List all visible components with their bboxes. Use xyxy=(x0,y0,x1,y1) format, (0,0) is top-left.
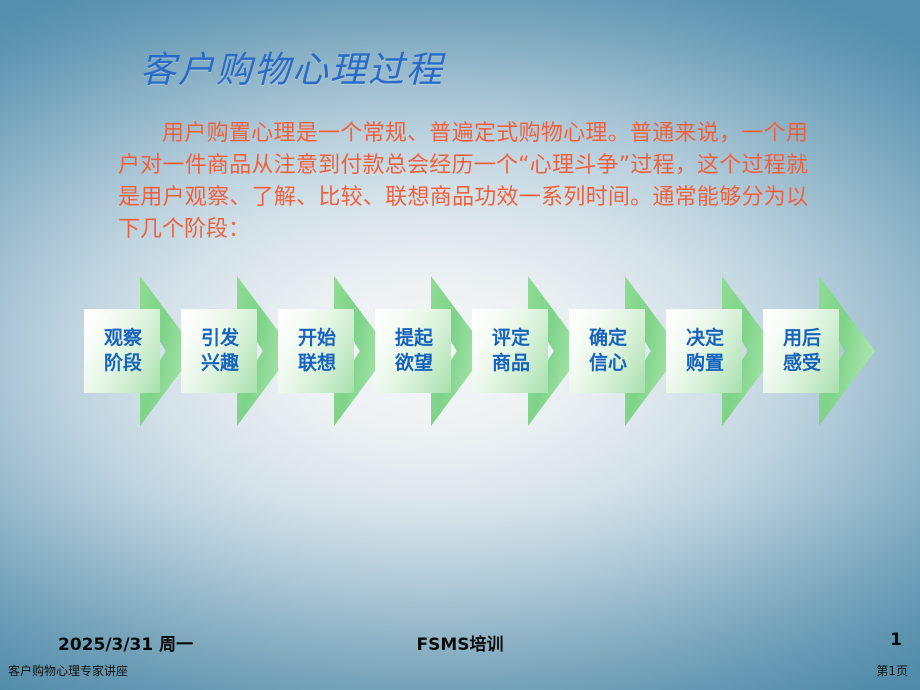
process-step-4: 提起 欲望 xyxy=(375,276,487,426)
process-step-label-line1: 引发 xyxy=(201,326,239,351)
presentation-slide: 客户购物心理过程 用户购置心理是一个常规、普遍定式购物心理。普通来说，一个用户对… xyxy=(0,0,920,690)
process-step-label-line1: 决定 xyxy=(686,326,724,351)
process-step-8: 用后 感受 xyxy=(763,276,875,426)
process-step-label-line1: 提起 xyxy=(395,326,433,351)
process-step-label-line2: 商品 xyxy=(492,351,530,376)
process-step-label-line2: 感受 xyxy=(783,351,821,376)
process-step-label-line2: 阶段 xyxy=(104,351,142,376)
process-step-label-line2: 信心 xyxy=(589,351,627,376)
process-step-5: 评定 商品 xyxy=(472,276,584,426)
process-flow-diagram: 观察 阶段 引发 兴趣 开始 联想 提起 欲望 xyxy=(84,276,874,426)
process-step-label-line1: 评定 xyxy=(492,326,530,351)
page-title: 客户购物心理过程 xyxy=(140,48,800,94)
footer-slide-number: 1 xyxy=(0,630,902,650)
process-step-6: 确定 信心 xyxy=(569,276,681,426)
process-step-2: 引发 兴趣 xyxy=(181,276,293,426)
process-step-3: 开始 联想 xyxy=(278,276,390,426)
process-step-label-line2: 联想 xyxy=(298,351,336,376)
process-step-label: 评定 商品 xyxy=(472,309,550,393)
process-step-label-line1: 观察 xyxy=(104,326,142,351)
process-step-label: 开始 联想 xyxy=(278,309,356,393)
process-step-1: 观察 阶段 xyxy=(84,276,196,426)
process-step-label: 用后 感受 xyxy=(763,309,841,393)
process-step-label-line2: 购置 xyxy=(686,351,724,376)
process-step-label: 引发 兴趣 xyxy=(181,309,259,393)
process-step-label-line1: 用后 xyxy=(783,326,821,351)
body-paragraph: 用户购置心理是一个常规、普遍定式购物心理。普通来说，一个用户对一件商品从注意到付… xyxy=(118,118,808,246)
process-step-label: 确定 信心 xyxy=(569,309,647,393)
process-step-label-line1: 确定 xyxy=(589,326,627,351)
process-step-label-line2: 兴趣 xyxy=(201,351,239,376)
process-step-label-line2: 欲望 xyxy=(395,351,433,376)
process-step-label-line1: 开始 xyxy=(298,326,336,351)
process-step-label: 决定 购置 xyxy=(666,309,744,393)
process-step-label: 提起 欲望 xyxy=(375,309,453,393)
footer-page-label: 第1页 xyxy=(0,662,908,679)
process-step-label: 观察 阶段 xyxy=(84,309,162,393)
process-step-7: 决定 购置 xyxy=(666,276,778,426)
